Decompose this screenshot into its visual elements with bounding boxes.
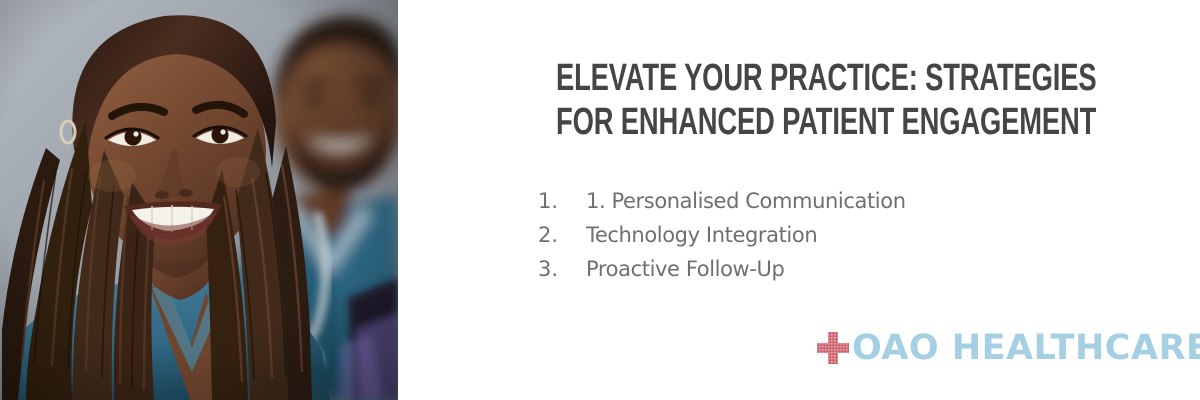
list-item: 1. 1. Personalised Communication xyxy=(538,184,906,218)
strategies-list: 1. 1. Personalised Communication 2. Tech… xyxy=(538,184,906,286)
content-panel: ELEVATE YOUR PRACTICE: STRATEGIES FOR EN… xyxy=(398,0,1200,400)
hero-photo-illustration xyxy=(0,0,398,400)
hero-photo xyxy=(0,0,398,400)
page-title-line-1: ELEVATE YOUR PRACTICE: STRATEGIES xyxy=(556,56,1060,100)
list-item-label: 1. Personalised Communication xyxy=(586,184,906,218)
list-item-marker: 1. xyxy=(538,184,586,218)
brand-logo: OAO HEALTHCARE xyxy=(816,324,1200,372)
list-item-marker: 3. xyxy=(538,252,586,286)
medical-cross-icon xyxy=(816,331,850,365)
list-item-label: Proactive Follow-Up xyxy=(586,252,784,286)
slide-canvas: ELEVATE YOUR PRACTICE: STRATEGIES FOR EN… xyxy=(0,0,1200,400)
page-title-line-2: FOR ENHANCED PATIENT ENGAGEMENT xyxy=(556,100,1060,144)
page-title: ELEVATE YOUR PRACTICE: STRATEGIES FOR EN… xyxy=(556,56,1060,144)
list-item: 2. Technology Integration xyxy=(538,218,906,252)
list-item: 3. Proactive Follow-Up xyxy=(538,252,906,286)
list-item-label: Technology Integration xyxy=(586,218,817,252)
list-item-marker: 2. xyxy=(538,218,586,252)
brand-logo-text: OAO HEALTHCARE xyxy=(852,331,1200,366)
